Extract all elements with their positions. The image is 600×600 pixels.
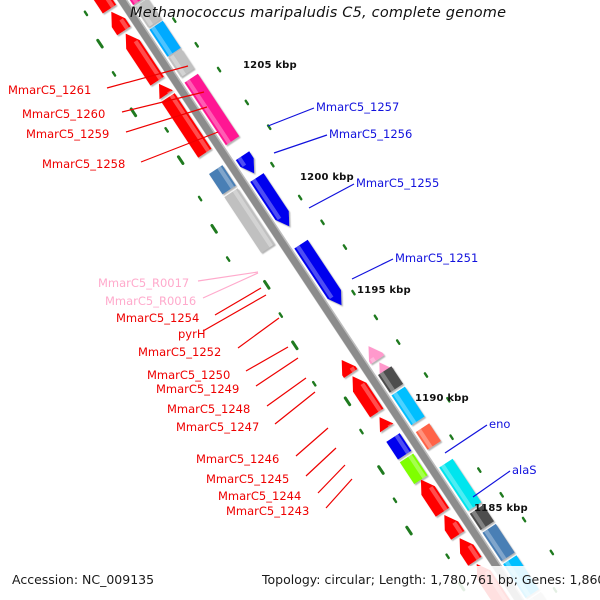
gene-label-mmarc5_1247[interactable]: MmarC5_1247 <box>176 420 259 434</box>
leader-line-mmarc5_1257 <box>268 108 314 126</box>
gene-label-alas[interactable]: alaS <box>512 463 537 477</box>
gene-label-mmarc5_1252[interactable]: MmarC5_1252 <box>138 345 221 359</box>
gene-label-mmarc5_1257[interactable]: MmarC5_1257 <box>316 100 399 114</box>
gene-label-mmarc5_1251[interactable]: MmarC5_1251 <box>395 251 478 265</box>
gene-rr1[interactable] <box>342 360 358 378</box>
leader-line-pyrh <box>203 295 266 331</box>
leader-line-mmarc5_1247 <box>275 392 315 424</box>
leader-line-mmarc5_1248 <box>267 378 306 406</box>
leader-line-mmarc5_1245 <box>306 448 336 476</box>
ruler-label-1185-kbp: 1185 kbp <box>474 503 528 514</box>
leader-line-mmarc5_1252 <box>238 318 279 348</box>
leader-line-mmarc5_1246 <box>296 428 328 456</box>
gene-label-mmarc5_1261[interactable]: MmarC5_1261 <box>8 83 91 97</box>
accession-text: Accession: NC_009135 <box>12 572 154 587</box>
ruler-label-1205-kbp: 1205 kbp <box>243 60 297 71</box>
genome-viewer: Methanococcus maripaludis C5, complete g… <box>0 0 600 600</box>
leader-line-mmarc5_1244 <box>318 465 345 493</box>
gene-label-mmarc5_1246[interactable]: MmarC5_1246 <box>196 452 279 466</box>
gene-label-mmarc5_1256[interactable]: MmarC5_1256 <box>329 127 412 141</box>
gene-label-mmarc5_1244[interactable]: MmarC5_1244 <box>218 489 301 503</box>
gene-label-pyrh[interactable]: pyrH <box>178 327 205 341</box>
gene-label-mmarc5_1258[interactable]: MmarC5_1258 <box>42 157 125 171</box>
leader-line-alas <box>473 471 510 497</box>
leader-line-mmarc5_1255 <box>309 184 354 208</box>
leader-line-mmarc5_1243 <box>326 479 352 508</box>
gene-R0017[interactable] <box>369 346 385 364</box>
gene-label-mmarc5_r0016[interactable]: MmarC5_R0016 <box>105 294 196 308</box>
gene-label-eno[interactable]: eno <box>489 417 510 431</box>
ruler-label-1200-kbp: 1200 kbp <box>300 172 354 183</box>
ruler-label-1195-kbp: 1195 kbp <box>357 285 411 296</box>
ruler-label-1190-kbp: 1190 kbp <box>415 393 469 404</box>
gene-label-mmarc5_1250[interactable]: MmarC5_1250 <box>147 368 230 382</box>
gene-label-mmarc5_1243[interactable]: MmarC5_1243 <box>226 504 309 518</box>
gene-label-mmarc5_1259[interactable]: MmarC5_1259 <box>26 127 109 141</box>
gene-label-mmarc5_1248[interactable]: MmarC5_1248 <box>167 402 250 416</box>
leader-line-eno <box>445 425 487 453</box>
gene-label-mmarc5_1254[interactable]: MmarC5_1254 <box>116 311 199 325</box>
gene-label-mmarc5_1245[interactable]: MmarC5_1245 <box>206 472 289 486</box>
leader-line-mmarc5_1250 <box>246 347 288 371</box>
leader-line-mmarc5_1256 <box>274 135 327 153</box>
gene-label-mmarc5_1260[interactable]: MmarC5_1260 <box>22 107 105 121</box>
page-title: Methanococcus maripaludis C5, complete g… <box>130 5 506 21</box>
leader-line-mmarc5_1251 <box>352 259 393 279</box>
gene-label-mmarc5_r0017[interactable]: MmarC5_R0017 <box>98 276 189 290</box>
gene-label-mmarc5_1255[interactable]: MmarC5_1255 <box>356 176 439 190</box>
genome-stats-text: Topology: circular; Length: 1,780,761 bp… <box>262 572 600 587</box>
gene-label-mmarc5_1249[interactable]: MmarC5_1249 <box>156 382 239 396</box>
